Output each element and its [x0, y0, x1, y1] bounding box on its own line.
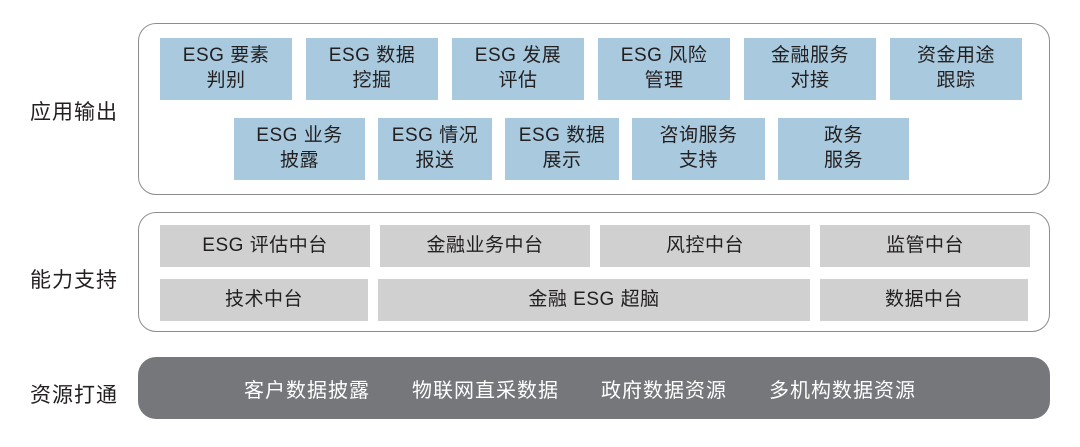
tile-line-1: ESG 风险 — [621, 44, 707, 69]
tile-fund-usage-tracking[interactable]: 资金用途 跟踪 — [890, 38, 1022, 100]
tile-line-1: ESG 数据 — [519, 124, 605, 149]
tile-line-2: 披露 — [280, 149, 319, 174]
tile-line-2: 展示 — [542, 149, 581, 174]
application-output-row-1: ESG 要素 判别 ESG 数据 挖掘 ESG 发展 评估 ESG 风险 管理 … — [160, 38, 1022, 100]
tile-esg-risk-management[interactable]: ESG 风险 管理 — [598, 38, 730, 100]
resource-item-multi-institution-data-resources[interactable]: 多机构数据资源 — [769, 374, 916, 403]
band-label-capability-support: 能力支持 — [18, 264, 130, 294]
tile-esg-element-identification[interactable]: ESG 要素 判别 — [160, 38, 292, 100]
tile-financial-esg-super-brain[interactable]: 金融 ESG 超脑 — [378, 279, 810, 321]
tile-line-2: 判别 — [206, 69, 245, 94]
tile-esg-development-assessment[interactable]: ESG 发展 评估 — [452, 38, 584, 100]
band-label-resource-integration: 资源打通 — [18, 379, 130, 409]
tile-regulatory-platform[interactable]: 监管中台 — [820, 225, 1030, 267]
architecture-diagram: 应用输出 能力支持 资源打通 ESG 要素 判别 ESG 数据 挖掘 ESG 发… — [0, 0, 1080, 447]
tile-financial-business-platform[interactable]: 金融业务中台 — [380, 225, 590, 267]
resource-item-iot-direct-data[interactable]: 物联网直采数据 — [412, 374, 559, 403]
tile-esg-business-disclosure[interactable]: ESG 业务 披露 — [234, 118, 365, 180]
tile-line-1: 金融服务 — [771, 44, 849, 69]
tile-risk-control-platform[interactable]: 风控中台 — [600, 225, 810, 267]
tile-esg-data-display[interactable]: ESG 数据 展示 — [505, 118, 619, 180]
tile-line-2: 挖掘 — [352, 69, 391, 94]
tile-data-platform[interactable]: 数据中台 — [820, 279, 1028, 321]
resource-item-government-data-resources[interactable]: 政府数据资源 — [601, 374, 727, 403]
tile-line-1: ESG 数据 — [329, 44, 415, 69]
tile-line-2: 跟踪 — [936, 69, 975, 94]
tile-esg-assessment-platform[interactable]: ESG 评估中台 — [160, 225, 370, 267]
tile-line-1: ESG 情况 — [392, 124, 478, 149]
band-label-application-output: 应用输出 — [18, 96, 130, 126]
tile-esg-data-mining[interactable]: ESG 数据 挖掘 — [306, 38, 438, 100]
tile-technology-platform[interactable]: 技术中台 — [160, 279, 368, 321]
tile-line-1: 资金用途 — [917, 44, 995, 69]
tile-line-1: ESG 业务 — [256, 124, 342, 149]
tile-line-2: 服务 — [824, 149, 863, 174]
application-output-row-2: ESG 业务 披露 ESG 情况 报送 ESG 数据 展示 咨询服务 支持 政务… — [234, 118, 909, 180]
resource-integration-items: 客户数据披露 物联网直采数据 政府数据资源 多机构数据资源 — [244, 374, 916, 403]
resource-item-customer-data-disclosure[interactable]: 客户数据披露 — [244, 374, 370, 403]
tile-line-1: 咨询服务 — [659, 124, 737, 149]
tile-line-1: 政务 — [824, 124, 863, 149]
capability-support-row-2: 技术中台 金融 ESG 超脑 数据中台 — [160, 279, 1028, 321]
tile-line-2: 对接 — [790, 69, 829, 94]
capability-support-row-1: ESG 评估中台 金融业务中台 风控中台 监管中台 — [160, 225, 1030, 267]
tile-line-2: 评估 — [498, 69, 537, 94]
tile-line-1: ESG 要素 — [183, 44, 269, 69]
tile-consulting-service-support[interactable]: 咨询服务 支持 — [632, 118, 765, 180]
tile-line-2: 报送 — [415, 149, 454, 174]
tile-line-2: 支持 — [679, 149, 718, 174]
tile-esg-status-reporting[interactable]: ESG 情况 报送 — [378, 118, 492, 180]
tile-line-1: ESG 发展 — [475, 44, 561, 69]
tile-government-affairs-service[interactable]: 政务 服务 — [778, 118, 909, 180]
tile-line-2: 管理 — [644, 69, 683, 94]
tile-financial-service-connection[interactable]: 金融服务 对接 — [744, 38, 876, 100]
resource-integration-bar: 客户数据披露 物联网直采数据 政府数据资源 多机构数据资源 — [138, 357, 1050, 419]
